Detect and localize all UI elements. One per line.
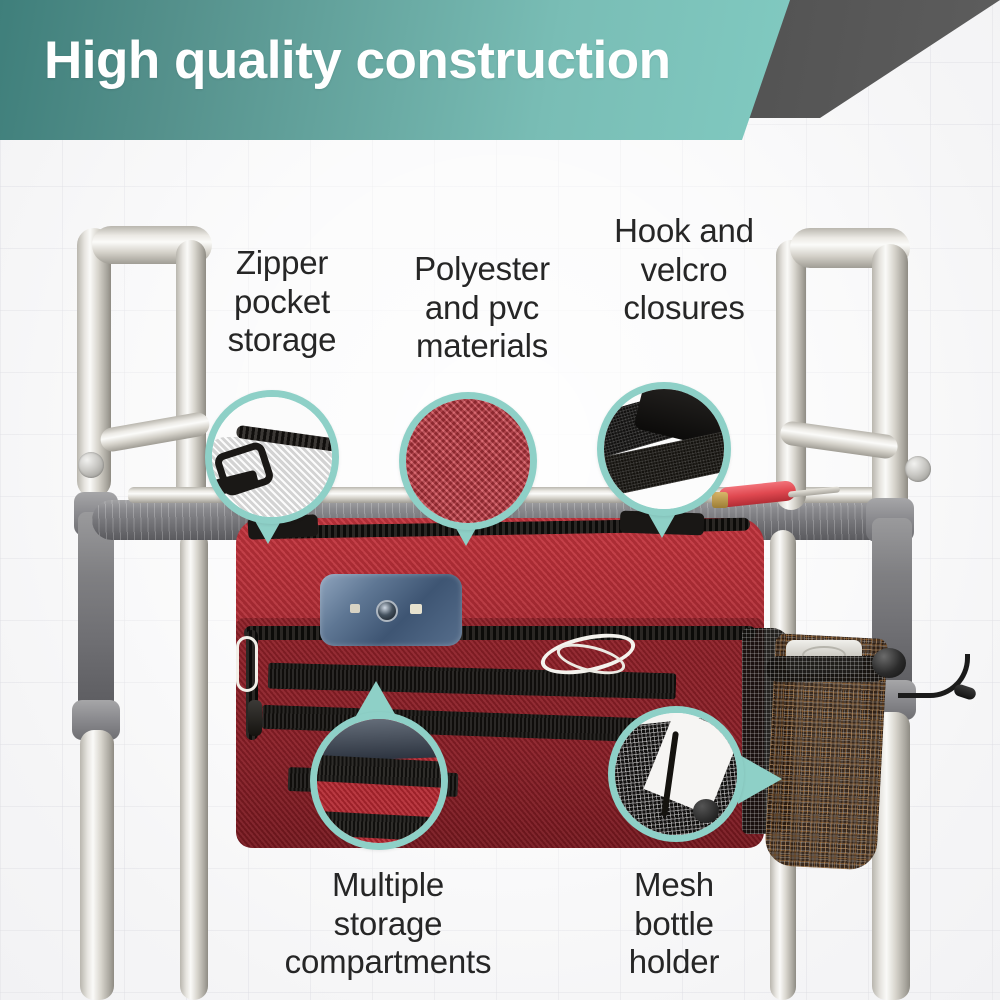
- walker-right-handle-riser: [872, 244, 908, 524]
- feature-label-hook-and-velcro-closures: Hook and velcro closures: [580, 212, 788, 328]
- zoom-zipper-pocket-detail: [212, 397, 332, 517]
- walker-right-bolt: [905, 456, 931, 482]
- zoom-mesh-holder-detail: [615, 713, 737, 835]
- walker-left-lower-leg: [80, 730, 114, 1000]
- infographic-canvas: High quality construction Zipper pocket …: [0, 0, 1000, 1000]
- zoom-velcro-detail: [604, 389, 724, 509]
- zoom-compartments-detail: [317, 719, 441, 843]
- header-banner: High quality construction: [0, 0, 1000, 152]
- smartphone-flash: [410, 604, 422, 614]
- zipper-pull-tab: [248, 700, 262, 736]
- walker-left-rear-leg: [180, 530, 208, 1000]
- smartphone-speaker: [350, 604, 360, 613]
- callout-bubble-zipper-pocket-storage: [205, 390, 339, 524]
- feature-label-zipper-pocket-storage: Zipper pocket storage: [176, 244, 388, 360]
- callout-bubble-polyester-and-pvc-materials: [399, 392, 537, 530]
- walker-left-bolt: [78, 452, 104, 478]
- callout-bubble-mesh-bottle-holder: [608, 706, 744, 842]
- feature-label-mesh-bottle-holder: Mesh bottle holder: [578, 866, 770, 982]
- callout-bubble-hook-and-velcro-closures: [597, 382, 731, 516]
- walker-left-gray-leg: [78, 512, 114, 724]
- cord-end-cap: [953, 683, 978, 701]
- page-title: High quality construction: [44, 33, 670, 89]
- zoom-polyester-weave-detail: [399, 392, 537, 530]
- callout-bubble-multiple-storage-compartments: [310, 712, 448, 850]
- callout-pointer-mesh-bottle-holder: [738, 754, 782, 804]
- zipper-pull-cord: [236, 636, 258, 692]
- smartphone-camera: [376, 600, 398, 622]
- feature-label-polyester-and-pvc-materials: Polyester and pvc materials: [376, 250, 588, 366]
- feature-label-multiple-storage-compartments: Multiple storage compartments: [258, 866, 518, 982]
- mesh-holder-rim: [766, 656, 886, 682]
